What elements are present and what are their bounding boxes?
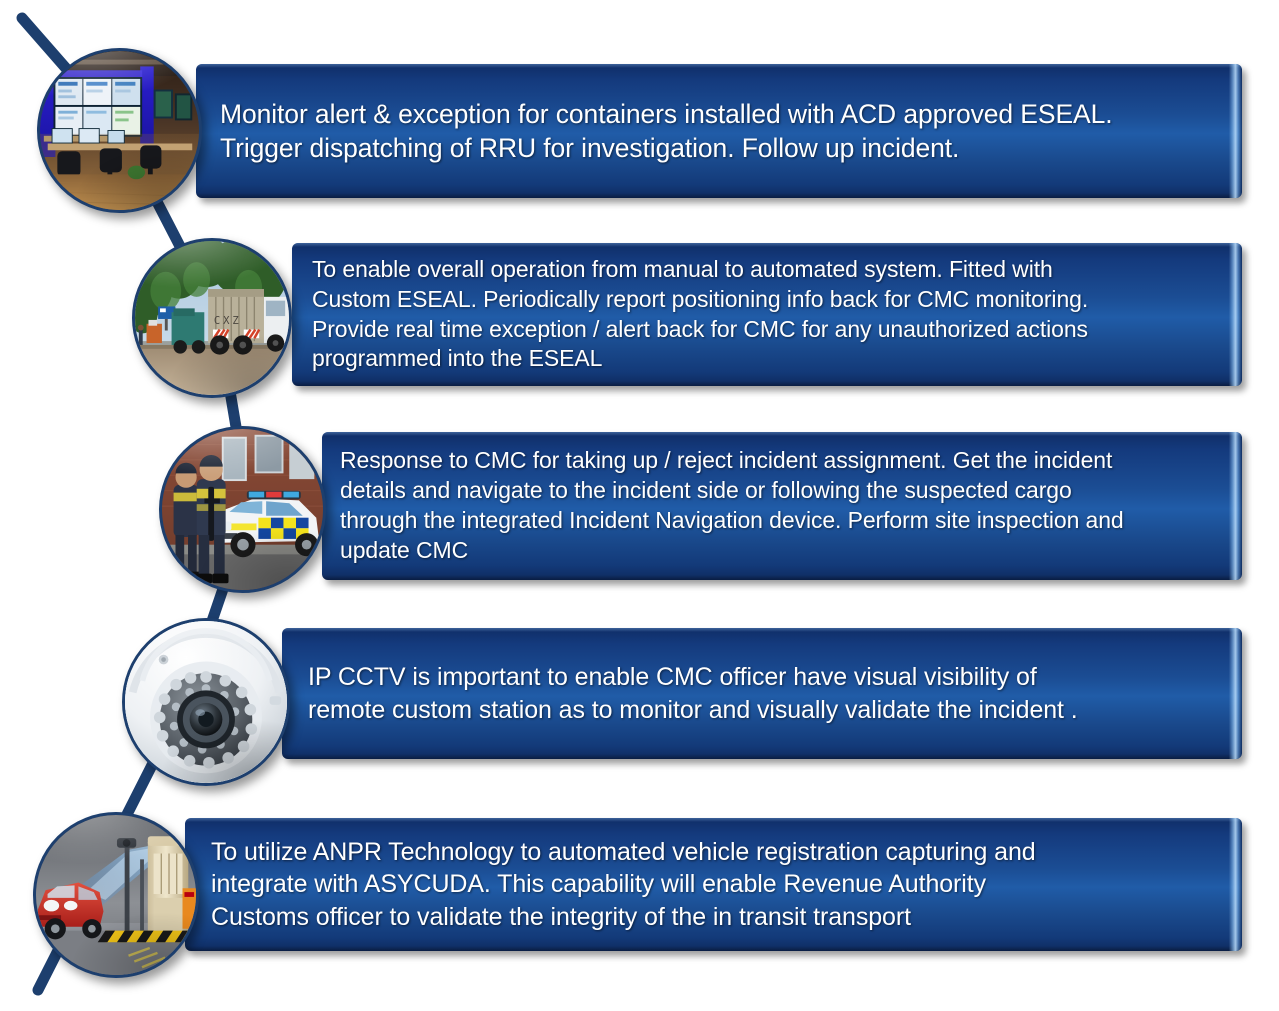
circle-gloss (125, 621, 287, 783)
step-text-5: To utilize ANPR Technology to automated … (211, 836, 1036, 934)
step-text-4: IP CCTV is important to enable CMC offic… (308, 661, 1078, 726)
circle-gloss (40, 51, 199, 210)
banner-bevel-right (1229, 243, 1242, 386)
step-banner-4[interactable]: IP CCTV is important to enable CMC offic… (282, 628, 1242, 759)
banner-bevel-top (185, 818, 1242, 822)
banner-bevel-top (196, 64, 1242, 68)
banner-bevel-bottom (322, 575, 1242, 580)
step-banner-1[interactable]: Monitor alert & exception for containers… (196, 64, 1242, 198)
step-text-1: Monitor alert & exception for containers… (220, 97, 1113, 166)
circle-gloss (135, 241, 289, 395)
banner-bevel-right (1229, 432, 1242, 580)
banner-bevel-top (292, 243, 1242, 247)
circle-gloss (162, 429, 323, 590)
banner-bevel-right (1229, 818, 1242, 951)
step-banner-2[interactable]: To enable overall operation from manual … (292, 243, 1242, 386)
banner-bevel-right (1229, 628, 1242, 759)
step-banner-5[interactable]: To utilize ANPR Technology to automated … (185, 818, 1242, 951)
banner-bevel-top (282, 628, 1242, 632)
banner-bevel-bottom (292, 381, 1242, 386)
step-text-2: To enable overall operation from manual … (312, 255, 1088, 375)
banner-bevel-bottom (196, 193, 1242, 198)
step-text-3: Response to CMC for taking up / reject i… (340, 446, 1124, 566)
banner-bevel-top (322, 432, 1242, 436)
step-icon-1[interactable] (37, 48, 202, 213)
banner-bevel-right (1229, 64, 1242, 198)
step-banner-3[interactable]: Response to CMC for taking up / reject i… (322, 432, 1242, 580)
circle-gloss (36, 815, 196, 975)
process-diagram: Monitor alert & exception for containers… (0, 0, 1279, 1011)
step-icon-2[interactable]: CXZ (132, 238, 292, 398)
step-icon-4[interactable] (122, 618, 290, 786)
step-icon-5[interactable] (33, 812, 199, 978)
step-icon-3[interactable] (159, 426, 326, 593)
banner-bevel-bottom (282, 754, 1242, 759)
banner-bevel-bottom (185, 946, 1242, 951)
